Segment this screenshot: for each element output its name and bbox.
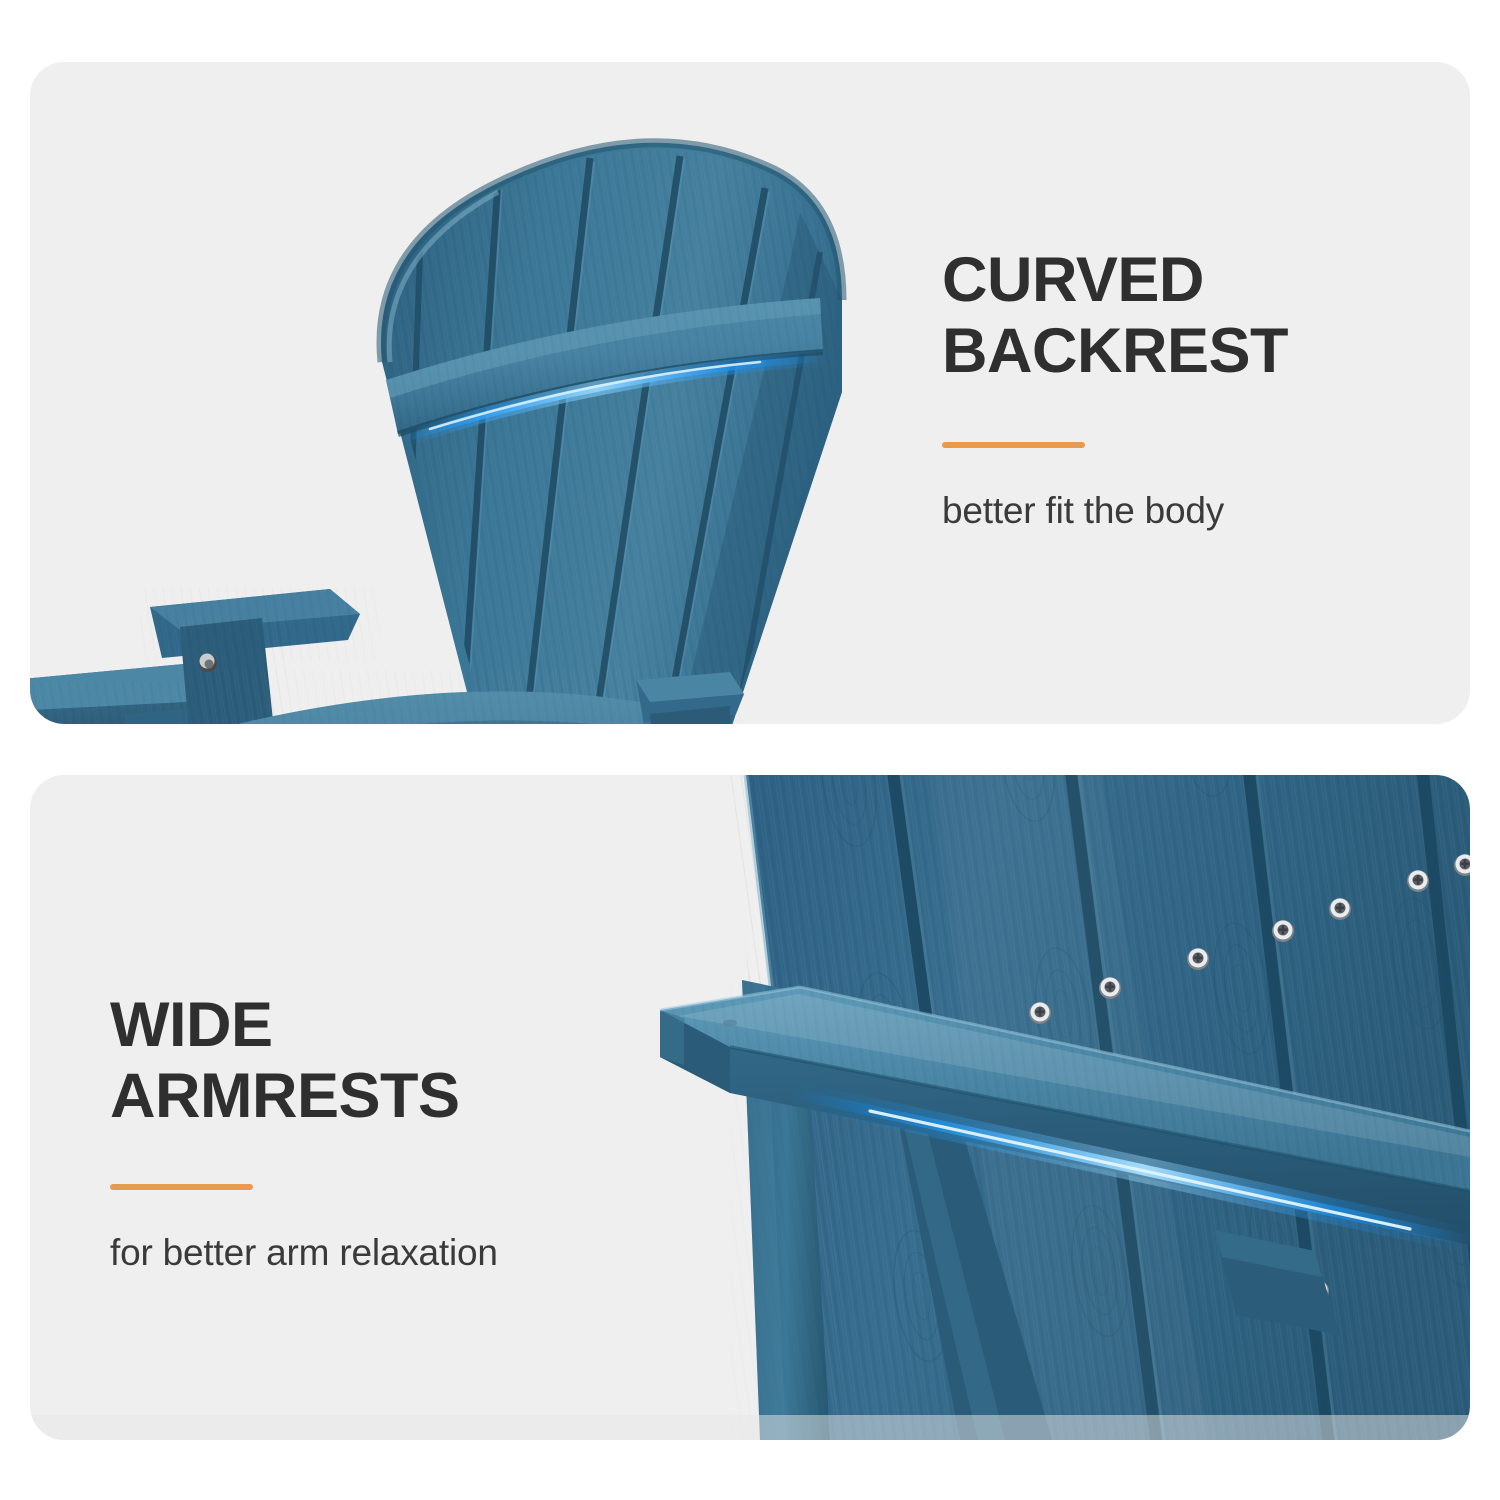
screw-head (1272, 920, 1294, 942)
screw-head (723, 1020, 737, 1027)
screw-head (1029, 1002, 1051, 1024)
feature-text-curved-backrest: CURVED BACKREST better fit the body (942, 245, 1288, 532)
feature-headline: CURVED BACKREST (942, 245, 1288, 387)
accent-rule (942, 442, 1085, 448)
screw-head (1099, 977, 1121, 999)
screw-head (1329, 898, 1351, 920)
feature-panel-wide-armrests: WIDE ARMRESTS for better arm relaxation (30, 775, 1470, 1440)
right-armrest-stub (636, 672, 744, 724)
feature-panel-curved-backrest: CURVED BACKREST better fit the body (30, 62, 1470, 724)
feature-text-wide-armrests: WIDE ARMRESTS for better arm relaxation (110, 990, 498, 1274)
accent-rule (110, 1184, 253, 1190)
feature-headline: WIDE ARMRESTS (110, 990, 498, 1132)
screw-head (1407, 870, 1429, 892)
product-feature-page: CURVED BACKREST better fit the body (0, 0, 1500, 1500)
feature-subline: for better arm relaxation (110, 1232, 498, 1274)
screw-head (1187, 948, 1209, 970)
feature-subline: better fit the body (942, 490, 1288, 532)
